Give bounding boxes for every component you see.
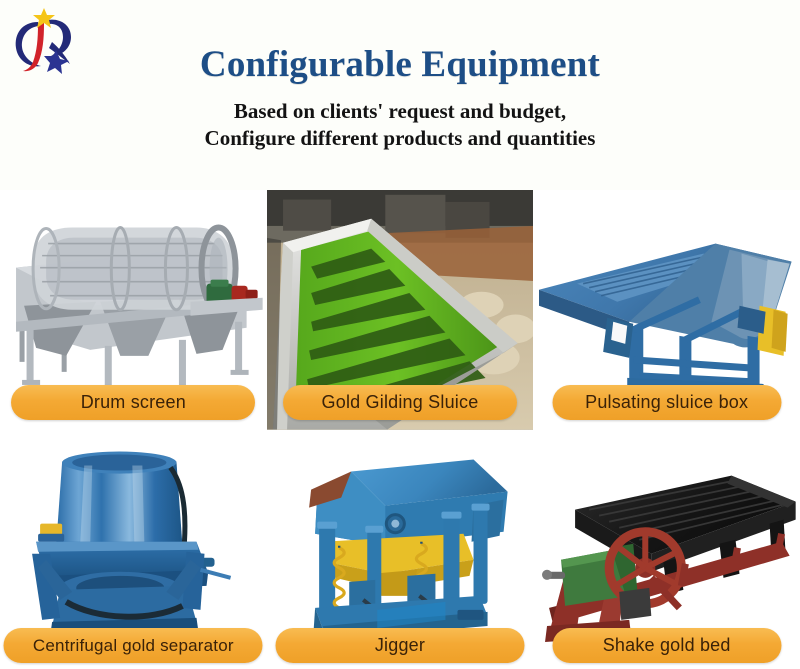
product-card-gold-gilding-sluice[interactable]: Gold Gilding Sluice — [267, 190, 534, 430]
product-card-drum-screen[interactable]: Drum screen — [0, 190, 267, 430]
product-card-pulsating-sluice-box[interactable]: Pulsating sluice box — [533, 190, 800, 430]
subtitle-line-1: Based on clients' request and budget, — [0, 98, 800, 125]
subtitle-line-2: Configure different products and quantit… — [0, 125, 800, 152]
product-label-jigger[interactable]: Jigger — [275, 628, 524, 663]
product-card-centrifugal-gold-separator[interactable]: Centrifugal gold separator — [0, 430, 267, 669]
product-label-drum-screen[interactable]: Drum screen — [11, 385, 255, 420]
page-subtitle: Based on clients' request and budget, Co… — [0, 98, 800, 153]
product-label-centrifugal-gold-separator[interactable]: Centrifugal gold separator — [4, 628, 263, 663]
product-label-pulsating-sluice-box[interactable]: Pulsating sluice box — [552, 385, 781, 420]
product-grid: Drum screen — [0, 190, 800, 669]
product-label-gold-gilding-sluice[interactable]: Gold Gilding Sluice — [283, 385, 517, 420]
header: Configurable Equipment Based on clients'… — [0, 46, 800, 152]
product-card-shake-gold-bed[interactable]: Shake gold bed — [533, 430, 800, 669]
product-card-jigger[interactable]: Jigger — [267, 430, 534, 669]
page-title: Configurable Equipment — [0, 46, 800, 85]
product-label-shake-gold-bed[interactable]: Shake gold bed — [552, 628, 781, 663]
